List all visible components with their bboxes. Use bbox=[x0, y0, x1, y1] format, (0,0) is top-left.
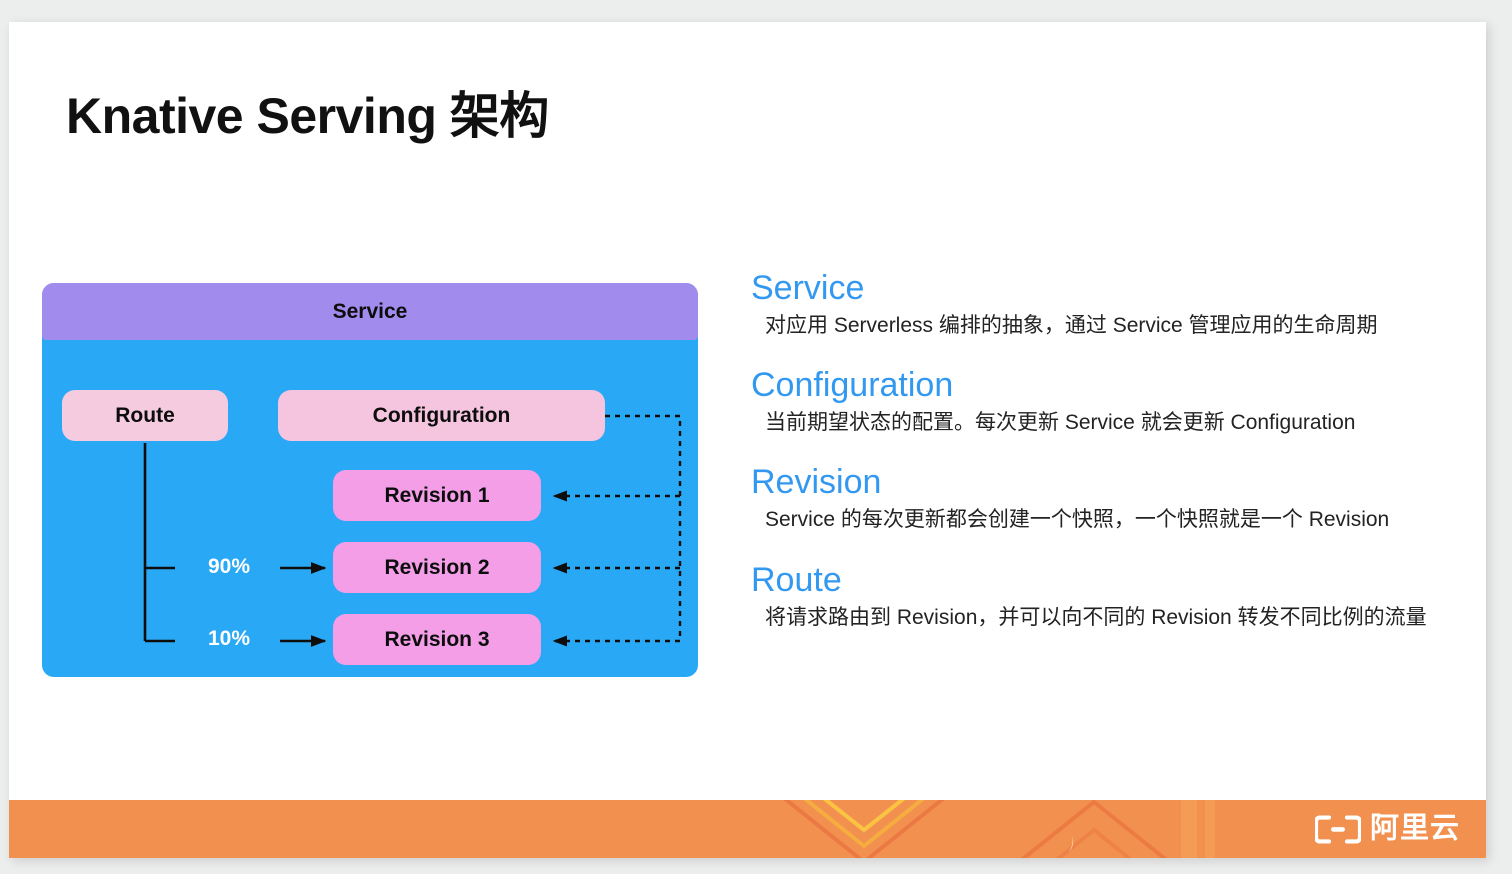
route-traffic-connectors bbox=[145, 443, 175, 641]
definition-description-configuration: 当前期望状态的配置。每次更新 Service 就会更新 Configuratio… bbox=[751, 407, 1466, 438]
definition-item-revision: Revision Service 的每次更新都会创建一个快照，一个快照就是一个 … bbox=[751, 462, 1466, 535]
definition-description-service: 对应用 Serverless 编排的抽象，通过 Service 管理应用的生命周… bbox=[751, 310, 1466, 341]
service-header-label: Service bbox=[333, 300, 408, 324]
definition-item-service: Service 对应用 Serverless 编排的抽象，通过 Service … bbox=[751, 268, 1466, 341]
diagram-node-revision-3[interactable]: Revision 3 bbox=[333, 614, 541, 665]
service-container-box: Service Route Configuration Revision 1 R… bbox=[42, 283, 698, 677]
diagram-node-revision-2-label: Revision 2 bbox=[384, 556, 489, 580]
diagram-node-route-label: Route bbox=[115, 404, 175, 428]
configuration-to-revision-connectors bbox=[554, 416, 680, 641]
slide-canvas: Knative Serving 架构 Service Route Configu… bbox=[9, 22, 1486, 858]
traffic-split-label-10: 10% bbox=[208, 627, 250, 651]
definition-term-service: Service bbox=[751, 268, 1466, 308]
definition-term-revision: Revision bbox=[751, 462, 1466, 502]
diagram-node-revision-1[interactable]: Revision 1 bbox=[333, 470, 541, 521]
diagram-node-configuration[interactable]: Configuration bbox=[278, 390, 605, 441]
diagram-node-configuration-label: Configuration bbox=[373, 404, 511, 428]
definition-term-configuration: Configuration bbox=[751, 365, 1466, 405]
diagram-node-revision-3-label: Revision 3 bbox=[384, 628, 489, 652]
definition-term-route: Route bbox=[751, 560, 1466, 600]
route-to-revision-arrows bbox=[280, 568, 325, 641]
knative-serving-architecture-diagram: Service Route Configuration Revision 1 R… bbox=[42, 283, 698, 677]
alibaba-cloud-logo: 阿里云 bbox=[1315, 815, 1460, 844]
service-header-bar: Service bbox=[42, 283, 698, 340]
definitions-panel: Service 对应用 Serverless 编排的抽象，通过 Service … bbox=[751, 268, 1466, 657]
definition-item-configuration: Configuration 当前期望状态的配置。每次更新 Service 就会更… bbox=[751, 365, 1466, 438]
definition-description-route: 将请求路由到 Revision，并可以向不同的 Revision 转发不同比例的… bbox=[751, 602, 1466, 633]
definition-item-route: Route 将请求路由到 Revision，并可以向不同的 Revision 转… bbox=[751, 560, 1466, 633]
diagram-node-revision-1-label: Revision 1 bbox=[384, 484, 489, 508]
alibaba-cloud-logo-text: 阿里云 bbox=[1370, 815, 1460, 844]
diagram-node-revision-2[interactable]: Revision 2 bbox=[333, 542, 541, 593]
page-title: Knative Serving 架构 bbox=[66, 76, 549, 148]
traffic-split-label-90: 90% bbox=[208, 555, 250, 579]
alibaba-cloud-bracket-icon bbox=[1315, 815, 1361, 843]
footer-chevron-decoration bbox=[9, 800, 1486, 858]
slide-footer: 阿里云 bbox=[9, 800, 1486, 858]
diagram-node-route[interactable]: Route bbox=[62, 390, 228, 441]
definition-description-revision: Service 的每次更新都会创建一个快照，一个快照就是一个 Revision bbox=[751, 504, 1466, 535]
